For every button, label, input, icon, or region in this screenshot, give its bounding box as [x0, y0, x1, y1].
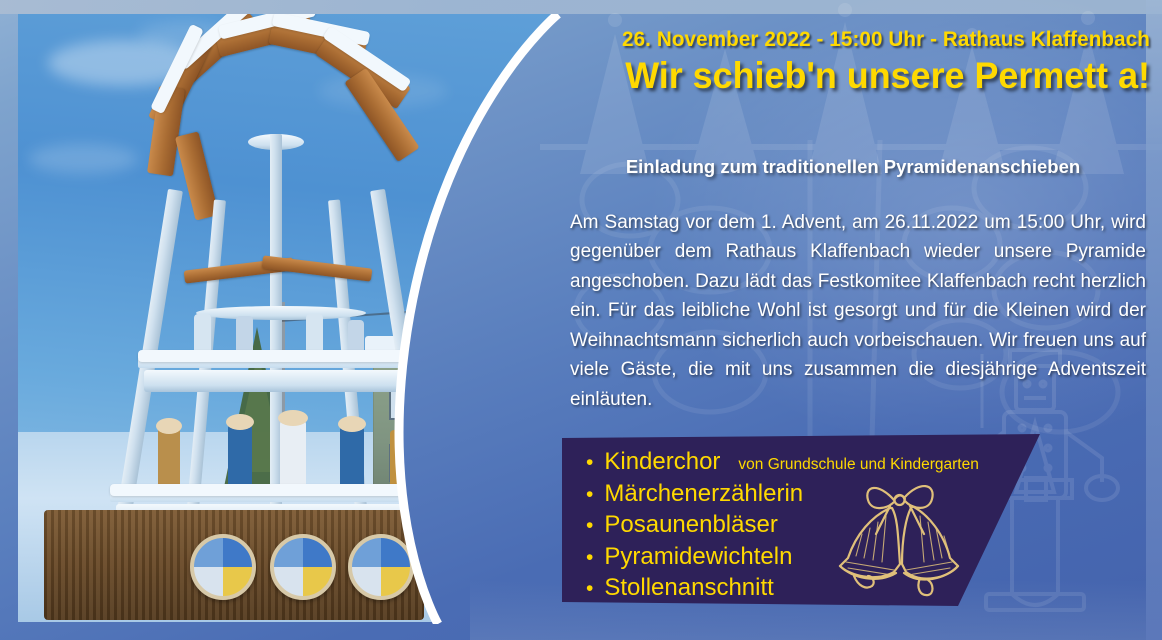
program-item-sub: von Grundschule und Kindergarten — [738, 455, 978, 475]
bullet-icon: • — [586, 515, 593, 536]
list-item: • Kinderchor von Grundschule und Kinderg… — [586, 446, 1026, 478]
bullet-icon: • — [586, 452, 593, 473]
bullet-icon: • — [586, 578, 593, 599]
poster-subtitle: Einladung zum traditionellen Pyramidenan… — [560, 156, 1146, 178]
bullet-icon: • — [586, 547, 593, 568]
program-list: • Kinderchor von Grundschule und Kinderg… — [586, 446, 1026, 604]
poster-body-text: Am Samstag vor dem 1. Advent, am 26.11.2… — [570, 208, 1146, 414]
program-item-main: Pyramidewichteln — [604, 541, 792, 573]
poster-header: 26. November 2022 - 15:00 Uhr - Rathaus … — [500, 28, 1150, 95]
photo-medallion — [270, 534, 336, 600]
background-right-band — [1146, 0, 1162, 640]
program-item-main: Stollenanschnitt — [604, 572, 773, 604]
photo-medallion — [190, 534, 256, 600]
bullet-icon: • — [586, 484, 593, 505]
photo-medallion — [348, 534, 414, 600]
program-item-main: Kinderchor — [604, 446, 720, 478]
event-date-line: 26. November 2022 - 15:00 Uhr - Rathaus … — [526, 28, 1150, 52]
list-item: • Märchenerzählerin — [586, 478, 1026, 510]
list-item: • Posaunenbläser — [586, 509, 1026, 541]
poster-canvas: 26. November 2022 - 15:00 Uhr - Rathaus … — [0, 0, 1162, 640]
list-item: • Stollenanschnitt — [586, 572, 1026, 604]
program-item-main: Posaunenbläser — [604, 509, 777, 541]
program-item-main: Märchenerzählerin — [604, 478, 803, 510]
list-item: • Pyramidewichteln — [586, 541, 1026, 573]
poster-headline: Wir schieb'n unsere Permett a! — [520, 57, 1151, 96]
